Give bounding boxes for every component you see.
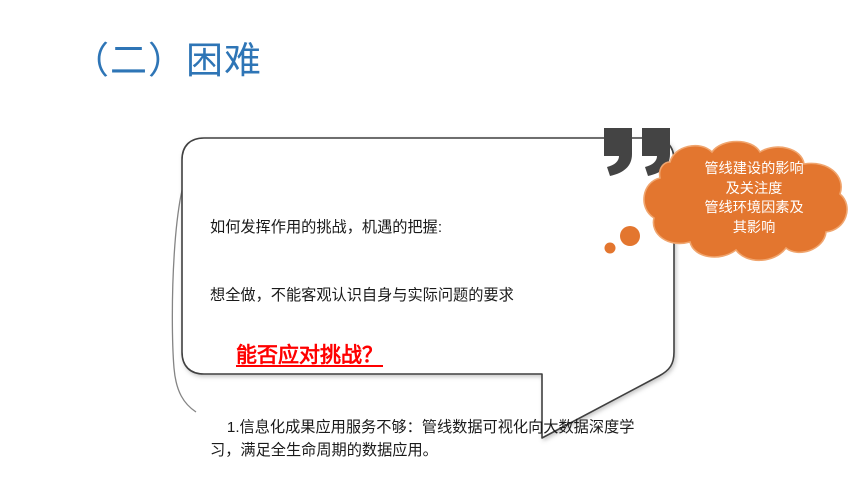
thought-cloud-text: 管线建设的影响 及关注度 管线环境因素及 其影响 <box>668 160 840 238</box>
bubble-numbered-item-1: 1.信息化成果应用服务不够：管线数据可视化向大数据深度学习，满足全生命周期的数据… <box>210 417 652 462</box>
bubble-text-block: 如何发挥作用的挑战，机遇的把握: 想全做，不能客观认识自身与实际问题的要求 1.… <box>210 172 652 480</box>
bubble-lead-line-1: 如何发挥作用的挑战，机遇的把握: <box>210 217 652 240</box>
thought-bubble-small <box>605 243 616 254</box>
bubble-red-callout: 能否应对挑战？ <box>236 342 383 370</box>
thought-bubble-large <box>620 226 640 246</box>
thought-bubble-trail <box>605 226 641 254</box>
page-title: （二）困难 <box>72 38 262 84</box>
bubble-lead-line-2: 想全做，不能客观认识自身与实际问题的要求 <box>210 285 652 308</box>
slide-canvas: （二）困难 如何发挥作用的挑战，机遇的把握: 想全做，不能客观认识自身与实际问题… <box>0 0 854 480</box>
